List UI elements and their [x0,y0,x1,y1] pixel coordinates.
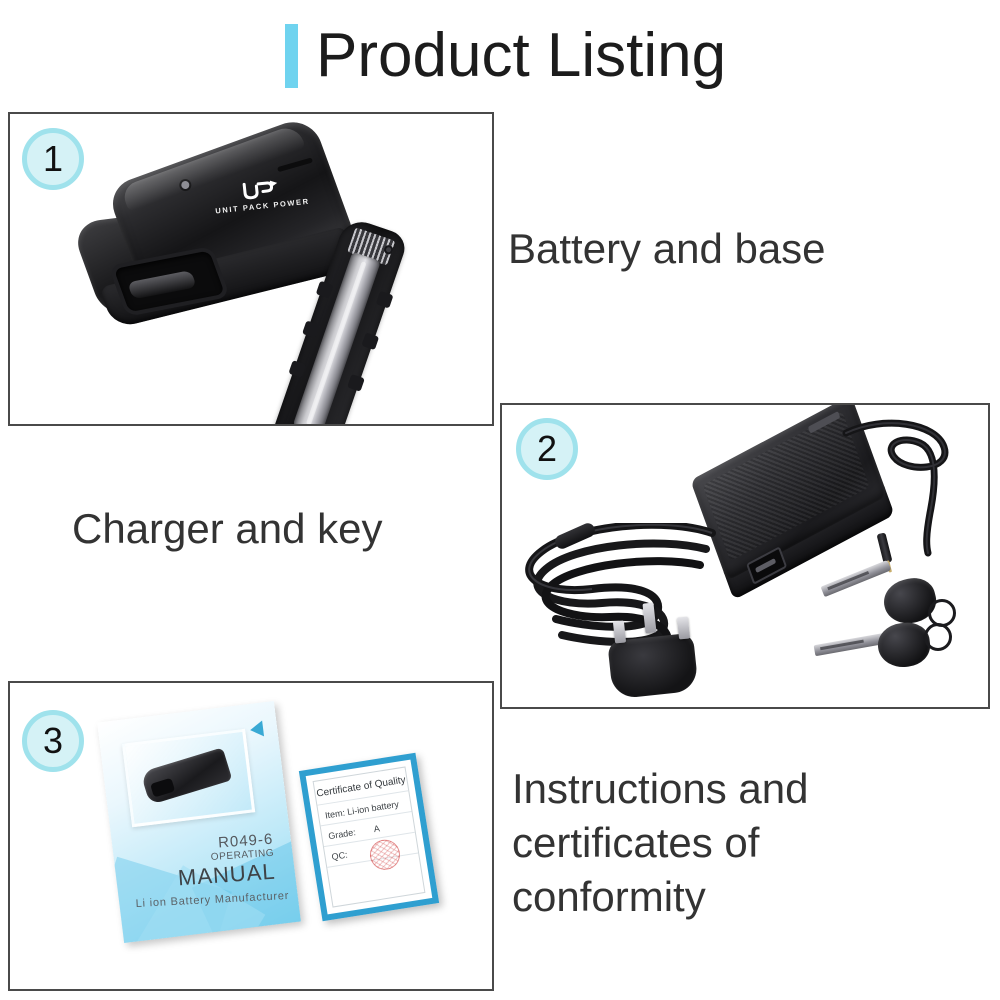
caption-instructions-and-certificates: Instructions and certificates of conform… [512,762,809,923]
dc-output-cable [840,417,970,557]
manual-title-block: R049-6 OPERATING MANUAL [176,831,277,892]
certificate-inner-frame: Certificate of Quality Item: Li-ion batt… [313,766,426,907]
certificate-card-illustration: Certificate of Quality Item: Li-ion batt… [299,753,439,922]
upp-logo-icon [240,178,282,202]
product-image-instructions-and-certificates: R049-6 OPERATING MANUAL Li ion Battery M… [10,683,492,989]
step-badge-2: 2 [516,418,578,480]
key-blade [814,633,887,656]
qc-stamp-icon [368,838,402,872]
title-accent-bar [285,24,298,88]
title-label: Product Listing [316,25,726,87]
manual-photo-battery [140,747,232,805]
caption-charger-and-key: Charger and key [72,502,383,556]
certificate-grade-value: A [373,823,381,834]
key-head [876,620,932,669]
certificate-qc-label: QC: [331,850,348,862]
key-set-illustration [820,555,980,695]
key-blade [821,560,892,597]
step-badge-1: 1 [22,128,84,190]
page-title: Product Listing [285,24,726,88]
key-ring [924,623,952,651]
manual-cover-photo [122,729,255,827]
play-triangle-icon [249,721,264,738]
certificate-grade-label: Grade: [328,827,357,841]
caption-battery-and-base: Battery and base [508,222,826,276]
uk-plug-neutral-pin [677,616,690,639]
manual-booklet-illustration: R049-6 OPERATING MANUAL Li ion Battery M… [97,701,301,943]
uk-plug-live-pin [613,620,626,643]
step-badge-3: 3 [22,710,84,772]
